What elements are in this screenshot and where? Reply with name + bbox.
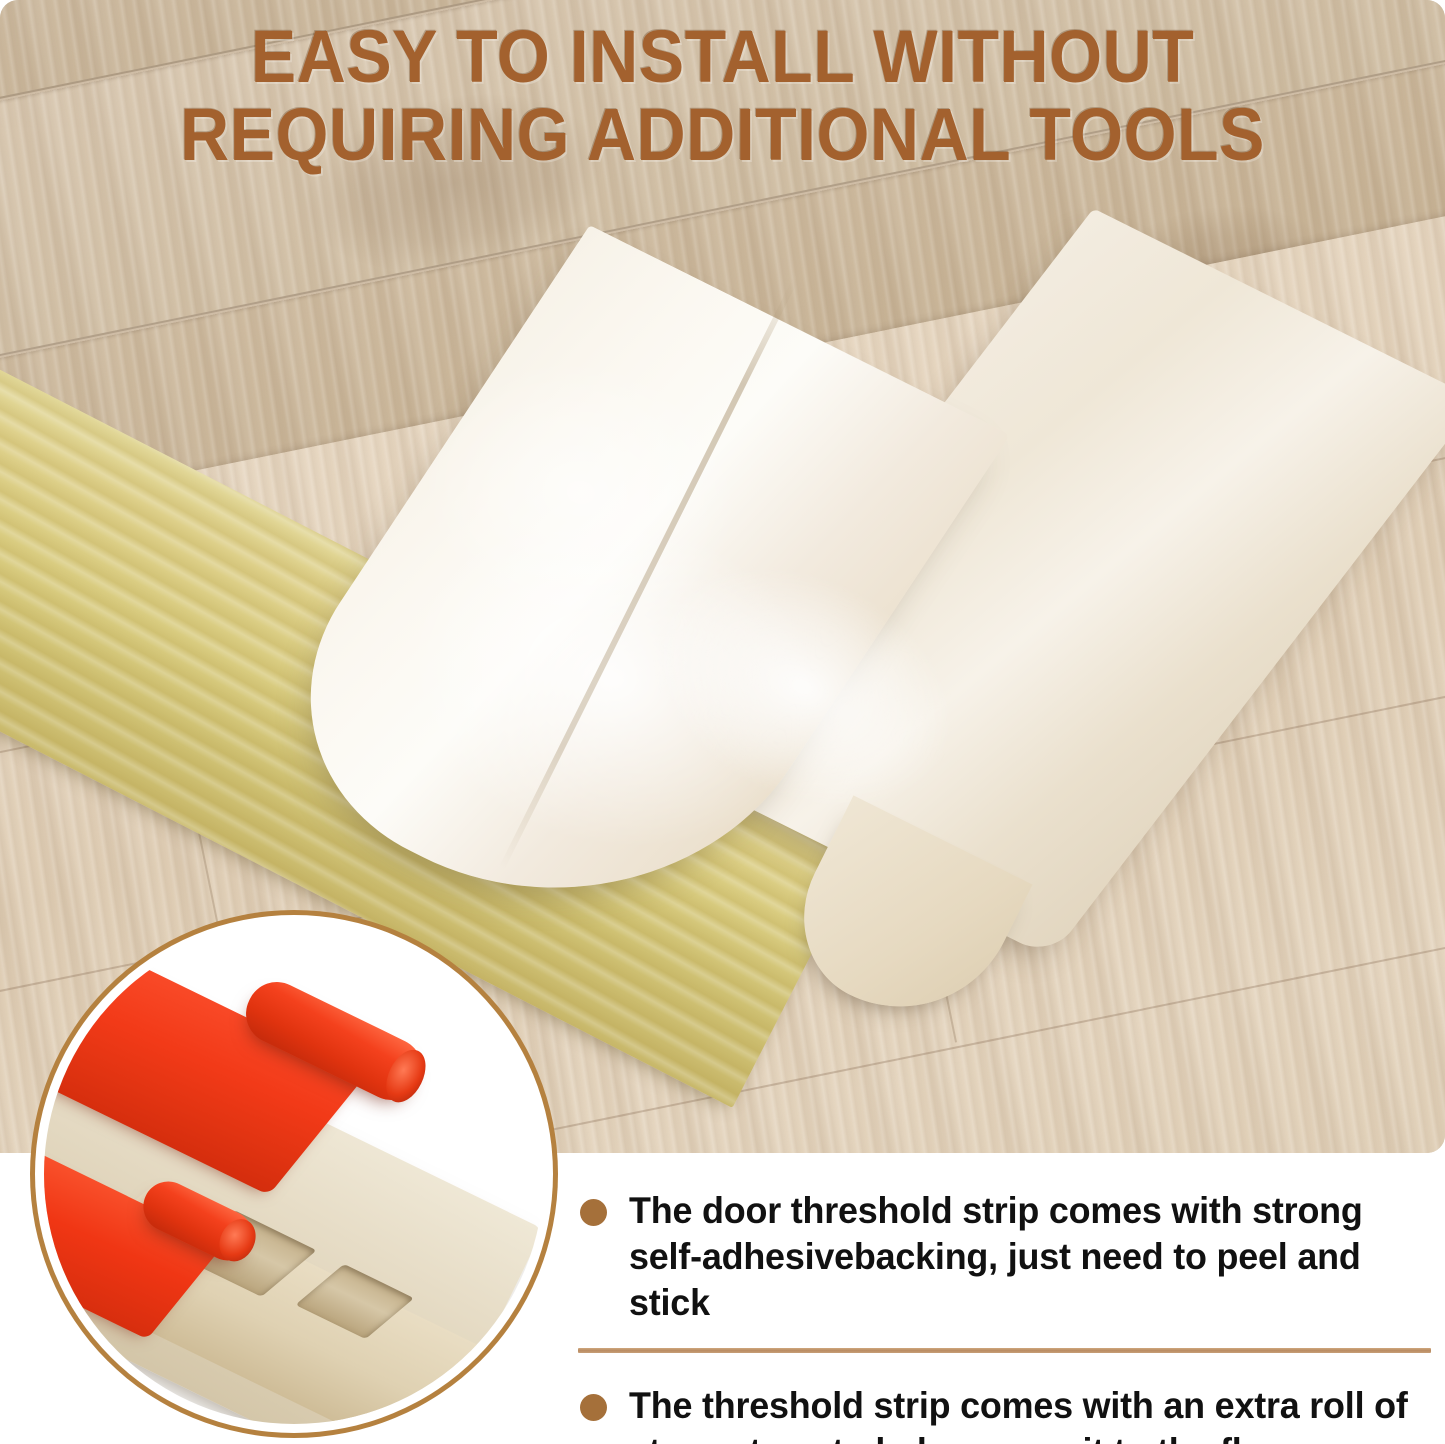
bullet-dot-icon	[580, 1394, 607, 1421]
threshold-strip-peeled	[525, 150, 1145, 1050]
bullet-text: The threshold strip comes with an extra …	[629, 1383, 1421, 1444]
product-infographic: EASY TO INSTALL WITHOUT REQUIRING ADDITI…	[0, 0, 1445, 1444]
list-item: The threshold strip comes with an extra …	[560, 1353, 1445, 1444]
list-item: The door threshold strip comes with stro…	[560, 1162, 1445, 1326]
bullet-dot-icon	[580, 1199, 607, 1226]
closeup-inset-circle	[44, 924, 544, 1424]
feature-bullets-panel: The door threshold strip comes with stro…	[560, 1162, 1445, 1444]
bullet-text: The door threshold strip comes with stro…	[629, 1188, 1421, 1326]
